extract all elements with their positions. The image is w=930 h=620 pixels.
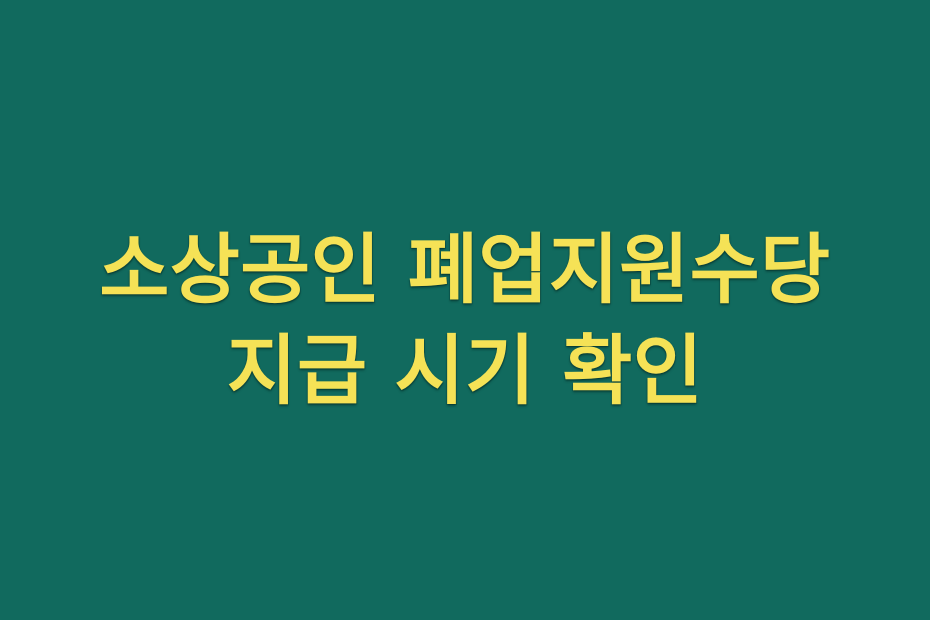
headline-line-2: 지급 시기 확인	[0, 322, 930, 421]
headline-block: 소상공인 폐업지원수당 지급 시기 확인	[0, 221, 930, 421]
headline-line-1: 소상공인 폐업지원수당	[0, 221, 930, 320]
thumbnail-banner: 소상공인 폐업지원수당 지급 시기 확인	[0, 0, 930, 620]
